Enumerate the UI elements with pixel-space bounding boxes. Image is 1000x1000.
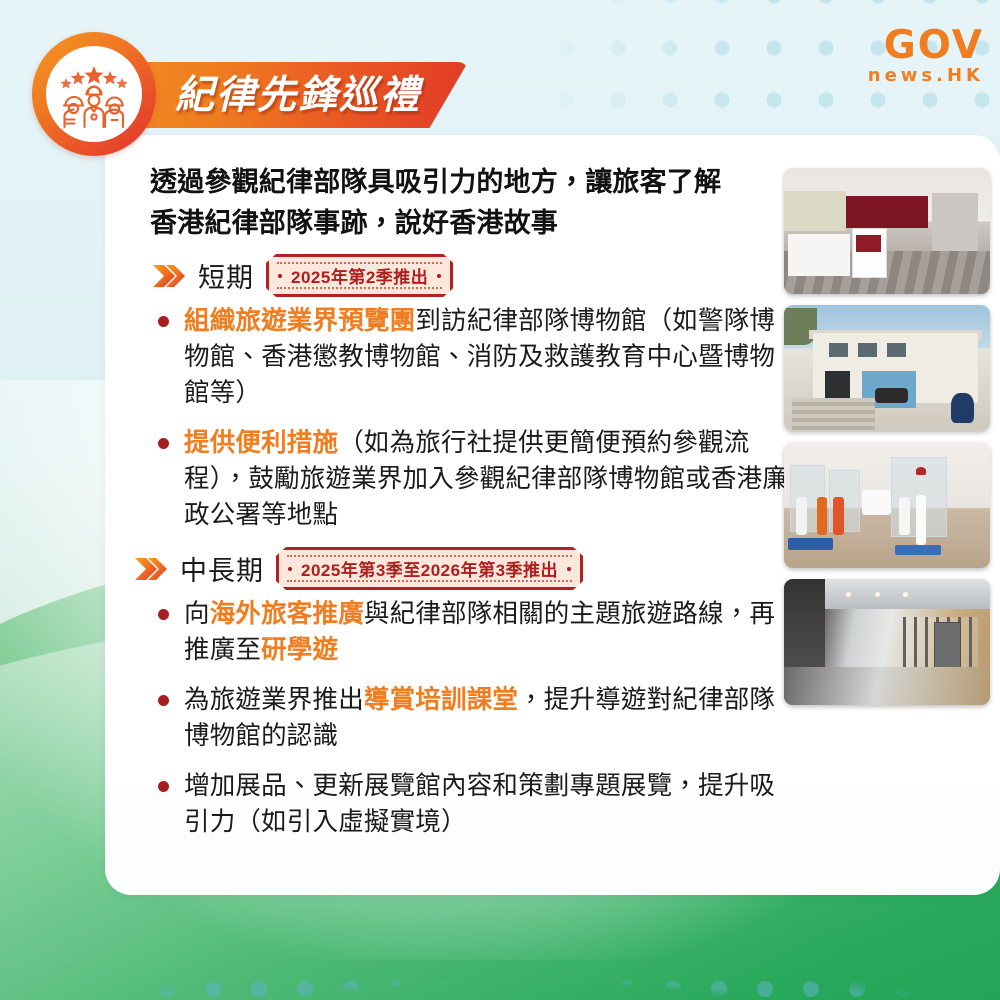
photo-column [784, 168, 1000, 716]
highlight-text: 海外旅客推廣 [210, 600, 364, 628]
museum-lobby-photo [784, 168, 990, 294]
lead-line-1: 透過參觀紀律部隊具吸引力的地方，讓旅客了解 [150, 167, 721, 197]
short-term-bullet-list: 組織旅遊業界預覽團到訪紀律部隊博物館（如警隊博物館、香港懲教博物館、消防及救護教… [150, 303, 790, 533]
list-item: 提供便利措施（如為旅行社提供更簡便預約參觀流程），鼓勵旅遊業界加入參觀紀律部隊博… [150, 425, 790, 533]
logo-gov-text: GOV [868, 26, 984, 65]
highlight-text: 導賞培訓課堂 [364, 686, 518, 714]
list-item: 增加展品、更新展覽館內容和策劃專題展覽，提升吸引力（如引入虛擬實境） [150, 768, 790, 840]
phase-timing-chip: 2025年第3季至2026年第3季推出 [276, 547, 583, 590]
highlight-text: 組織旅遊業界預覽團 [184, 307, 415, 335]
govnews-logo: GOV news.HK [868, 26, 984, 85]
double-chevron-right-icon [152, 263, 186, 289]
phase-header-short-term: 短期 2025年第2季推出 [152, 254, 790, 297]
body-text: 增加展品、更新展覽館內容和策劃專題展覽，提升吸引力（如引入虛擬實境） [184, 772, 775, 836]
lead-paragraph: 透過參觀紀律部隊具吸引力的地方，讓旅客了解 香港紀律部隊事跡，說好香港故事 [150, 162, 790, 244]
highlight-text: 研學遊 [261, 636, 338, 664]
phase-label: 短期 [198, 256, 254, 295]
list-item: 向海外旅客推廣與紀律部隊相關的主題旅遊路線，再推廣至研學遊 [150, 596, 790, 668]
uniform-exhibition-photo [784, 442, 990, 568]
prison-corridor-photo [784, 579, 990, 705]
highlight-text: 提供便利措施 [184, 429, 338, 457]
phase-header-mid-long-term: 中長期 2025年第3季至2026年第3季推出 [134, 547, 790, 590]
phase-timing-text: 2025年第2季推出 [291, 263, 428, 288]
police-museum-exterior-photo [784, 305, 990, 431]
list-item: 為旅遊業界推出導賞培訓課堂，提升導遊對紀律部隊博物館的認識 [150, 682, 790, 754]
body-text: 為旅遊業界推出 [184, 686, 364, 714]
logo-newshk-text: news.HK [868, 67, 984, 85]
phase-timing-chip: 2025年第2季推出 [266, 254, 453, 297]
discipline-officers-emblem-icon [32, 32, 156, 156]
lead-line-2: 香港紀律部隊事跡，說好香港故事 [150, 208, 558, 238]
main-content: 透過參觀紀律部隊具吸引力的地方，讓旅客了解 香港紀律部隊事跡，說好香港故事 短期… [150, 162, 790, 854]
phase-timing-text: 2025年第3季至2026年第3季推出 [301, 556, 558, 581]
list-item: 組織旅遊業界預覽團到訪紀律部隊博物館（如警隊博物館、香港懲教博物館、消防及救護教… [150, 303, 790, 411]
phase-label: 中長期 [180, 549, 264, 588]
officers-icon-svg [55, 55, 133, 133]
double-chevron-right-icon [134, 556, 168, 582]
body-text: 向 [184, 600, 210, 628]
mid-long-term-bullet-list: 向海外旅客推廣與紀律部隊相關的主題旅遊路線，再推廣至研學遊 為旅遊業界推出導賞培… [150, 596, 790, 840]
page-title: 紀律先鋒巡禮 [175, 70, 515, 122]
